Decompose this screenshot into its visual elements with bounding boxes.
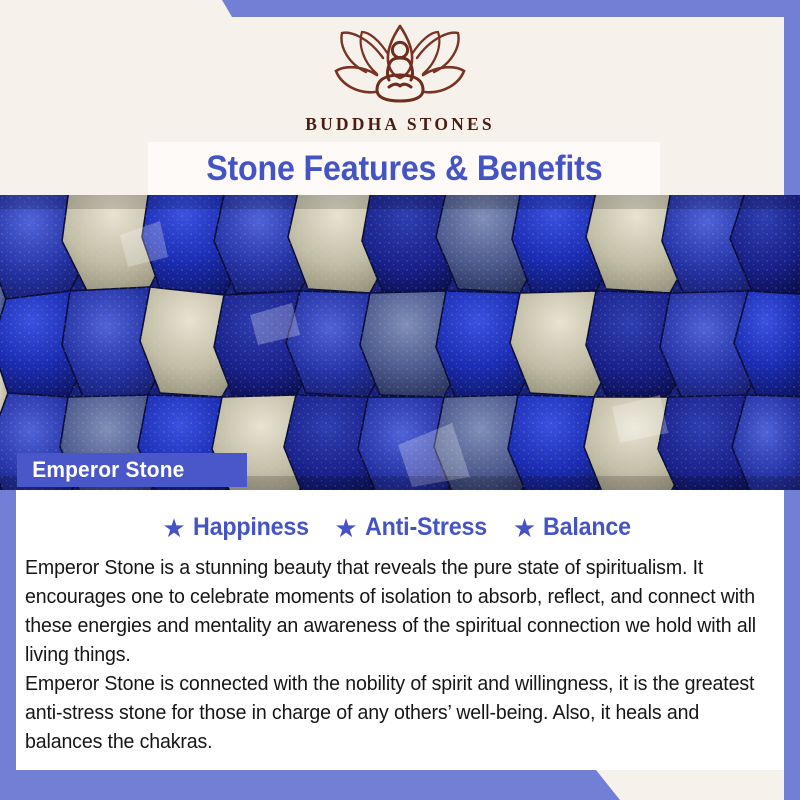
benefits-list: ★ Happiness ★ Anti-Stress ★ Balance xyxy=(16,513,784,542)
stone-name-text: Emperor Stone xyxy=(17,457,184,483)
lotus-meditation-icon xyxy=(325,18,475,110)
brand-name: BUDDHA STONES xyxy=(305,114,495,135)
lapis-lazuli-stones-image xyxy=(0,195,800,490)
benefit-item-anti-stress: ★ Anti-Stress xyxy=(334,513,495,542)
benefit-item-happiness: ★ Happiness xyxy=(162,513,317,542)
infographic-card: BUDDHA STONES Stone Features & Benefits xyxy=(0,0,800,800)
benefit-item-balance: ★ Balance xyxy=(513,513,638,542)
brand-logo: BUDDHA STONES xyxy=(0,18,800,135)
description-paragraph-1: Emperor Stone is a stunning beauty that … xyxy=(25,553,777,669)
star-icon: ★ xyxy=(334,515,357,541)
star-icon: ★ xyxy=(162,515,185,541)
stone-name-badge: Emperor Stone xyxy=(17,453,247,487)
benefit-label: Anti-Stress xyxy=(365,513,487,542)
star-icon: ★ xyxy=(513,515,536,541)
decorative-band-left xyxy=(0,488,16,800)
benefit-label: Balance xyxy=(543,513,631,542)
decorative-band-top xyxy=(210,0,800,17)
title-banner: Stone Features & Benefits xyxy=(148,142,660,195)
page-title: Stone Features & Benefits xyxy=(206,149,602,189)
description-paragraph-2: Emperor Stone is connected with the nobi… xyxy=(25,669,777,756)
description-panel: ★ Happiness ★ Anti-Stress ★ Balance Empe… xyxy=(16,490,784,770)
decorative-band-bottom xyxy=(0,770,620,800)
description-text: Emperor Stone is a stunning beauty that … xyxy=(25,553,777,756)
benefit-label: Happiness xyxy=(193,513,309,542)
stone-photo xyxy=(0,195,800,490)
